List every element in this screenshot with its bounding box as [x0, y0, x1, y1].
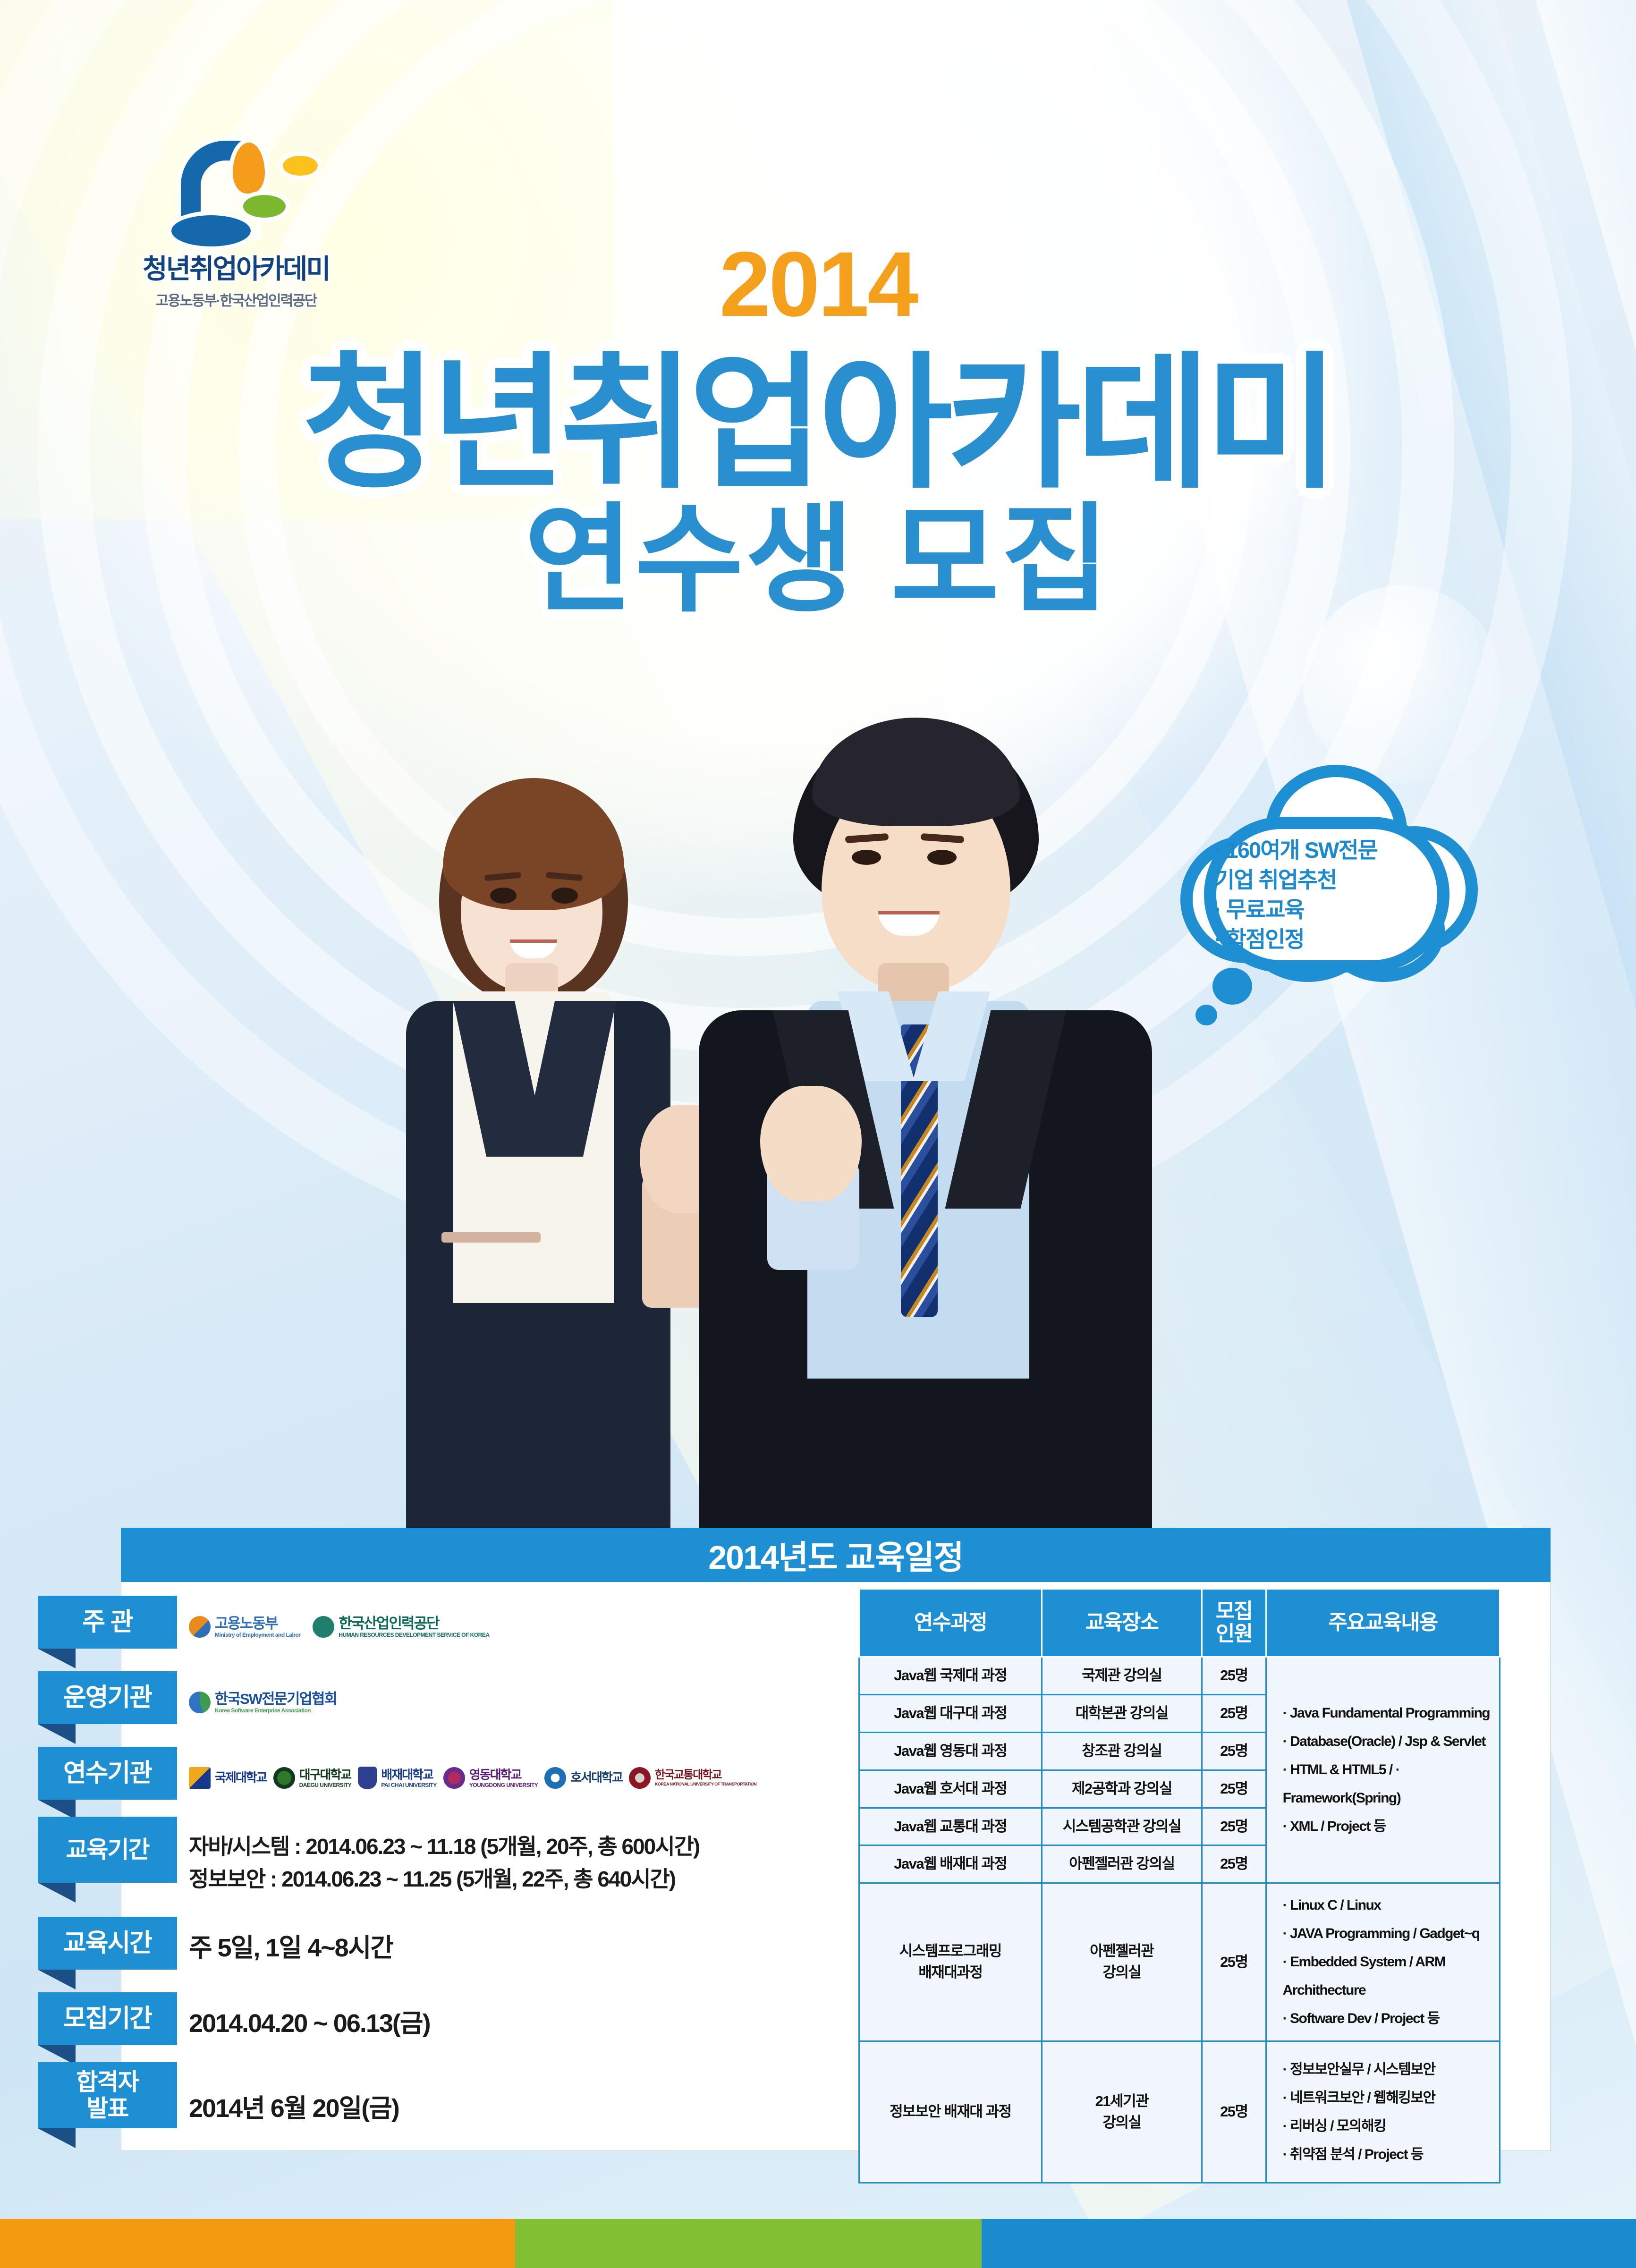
training-period-line-2: 정보보안 : 2014.06.23 ~ 11.25 (5개월, 22주, 총 6… [189, 1863, 812, 1896]
note-line: · Linux C / Linux [1283, 1891, 1496, 1920]
knut-badge-icon [629, 1767, 651, 1789]
cell-place: 아펜젤러관 강의실 [1042, 1845, 1202, 1883]
cell-course: Java웹 국제대 과정 [859, 1657, 1042, 1694]
cell-course: Java웹 호서대 과정 [859, 1770, 1042, 1808]
info-row-training-period: 교육기간 자바/시스템 : 2014.06.23 ~ 11.18 (5개월, 2… [84, 1816, 821, 1910]
cell-content-group1: · Java Fundamental Programming · Databas… [1266, 1657, 1500, 1883]
course-table-header-row: 연수과정 교육장소 모집 인원 주요교육내용 [859, 1589, 1500, 1657]
kosea-name: 한국SW전문기업협회 [215, 1692, 337, 1706]
woman-hair-top [443, 778, 624, 910]
cloud-benefit-text: · 160여개 SW전문 기업 취업추천 · 무료교육 · 학점인정 [1214, 836, 1436, 955]
title-year: 2014 [0, 238, 1636, 330]
woman-eye-left [490, 888, 517, 904]
cell-quota: 25명 [1202, 1657, 1266, 1694]
cell-course: Java웹 대구대 과정 [859, 1694, 1042, 1732]
kosea-text: 한국SW전문기업협회 Korea Software Enterprise Ass… [215, 1692, 337, 1713]
schedule-info-rows: 주 관 고용노동부 Ministry of Employment and Lab… [84, 1589, 821, 2156]
hrdkorea-name: 한국산업인력공단 [339, 1616, 489, 1631]
logo-moel: 고용노동부 Ministry of Employment and Labor [189, 1616, 300, 1638]
title-main: 청년취업아카데미 [0, 347, 1636, 499]
paichai-shield-icon [358, 1767, 377, 1789]
cell-course: Java웹 영동대 과정 [859, 1732, 1042, 1770]
info-label-host: 주 관 [38, 1596, 177, 1649]
man-eye-right [927, 850, 957, 865]
info-row-host: 주 관 고용노동부 Ministry of Employment and Lab… [84, 1589, 821, 1665]
logo-kookje-univ: 국제대학교 [189, 1767, 267, 1789]
logo-youngdong-univ: 영동대학교 YOUNGDONG UNIVERSITY [443, 1767, 538, 1789]
poster-title-block: 2014 청년취업아카데미 연수생 모집 [0, 0, 1636, 625]
cell-course: Java웹 배재대 과정 [859, 1845, 1042, 1883]
kosea-badge-icon [189, 1692, 211, 1713]
kookje-name: 국제대학교 [215, 1771, 267, 1784]
youngdong-text: 영동대학교 YOUNGDONG UNIVERSITY [469, 1769, 538, 1788]
hoseo-badge-icon [544, 1767, 566, 1789]
col-header-course: 연수과정 [859, 1589, 1042, 1657]
kookje-text: 국제대학교 [215, 1771, 267, 1785]
paichai-name: 배재대학교 [381, 1769, 437, 1781]
cloud-tail-small [1195, 1005, 1217, 1025]
cell-course: Java웹 교통대 과정 [859, 1808, 1042, 1845]
cell-course: 정보보안 배재대 과정 [859, 2041, 1042, 2183]
logo-kosea: 한국SW전문기업협회 Korea Software Enterprise Ass… [189, 1692, 337, 1713]
moel-name-en: Ministry of Employment and Labor [215, 1632, 300, 1638]
cell-place: 제2공학과 강의실 [1042, 1770, 1202, 1808]
info-row-results-announcement: 합격자 발표 2014년 6월 20일(금) [84, 2061, 821, 2156]
note-line: · HTML & HTML5 / · Framework(Spring) [1283, 1756, 1496, 1812]
table-row: 정보보안 배재대 과정 21세기관 강의실 25명 · 정보보안실무 / 시스템… [859, 2041, 1500, 2183]
knut-name-en: KOREA NATIONAL UNIVERSITY OF TRANSPORTAT… [655, 1782, 756, 1786]
footer-stripe-blue [982, 2219, 1636, 2268]
col-header-content: 주요교육내용 [1266, 1589, 1500, 1657]
note-line: · 네트워크보안 / 웹해킹보안 [1283, 2084, 1496, 2112]
note-line: · 정보보안실무 / 시스템보안 [1283, 2056, 1496, 2084]
hrdkorea-name-en: HUMAN RESOURCES DEVELOPMENT SERVICE OF K… [339, 1632, 489, 1638]
operator-logo-strip: 한국SW전문기업협회 Korea Software Enterprise Ass… [189, 1692, 812, 1713]
paichai-name-en: PAI CHAI UNIVERSITY [381, 1782, 437, 1788]
daegu-badge-icon [273, 1767, 295, 1789]
info-row-training-institutions: 연수기관 국제대학교 대구대학교 DAEGU [84, 1740, 821, 1816]
man-eye-left [852, 850, 881, 865]
cell-content-group3: · 정보보안실무 / 시스템보안 · 네트워크보안 / 웹해킹보안 · 리버싱 … [1266, 2041, 1500, 2183]
youngdong-badge-icon [443, 1767, 465, 1789]
kosea-name-en: Korea Software Enterprise Association [215, 1708, 337, 1713]
knut-name: 한국교통대학교 [655, 1769, 756, 1781]
note-line: · JAVA Programming / Gadget~q [1283, 1920, 1496, 1948]
note-line: · Embedded System / ARM Archithecture [1283, 1948, 1496, 2005]
note-line: · Database(Oracle) / Jsp & Servlet [1283, 1727, 1496, 1756]
info-label-training-period: 교육기간 [38, 1817, 177, 1883]
info-value-training-period: 자바/시스템 : 2014.06.23 ~ 11.18 (5개월, 20주, 총… [189, 1816, 812, 1910]
moel-name: 고용노동부 [215, 1616, 300, 1631]
cell-place: 국제관 강의실 [1042, 1657, 1202, 1694]
cell-place: 창조관 강의실 [1042, 1732, 1202, 1770]
cloud-tail-large [1212, 968, 1252, 1005]
knut-text: 한국교통대학교 KOREA NATIONAL UNIVERSITY OF TRA… [655, 1769, 756, 1786]
info-row-training-hours: 교육시간 주 5일, 1일 4~8시간 [84, 1910, 821, 1986]
logo-knut-univ: 한국교통대학교 KOREA NATIONAL UNIVERSITY OF TRA… [629, 1767, 756, 1789]
application-period-text: 2014.04.20 ~ 06.13(금) [189, 2005, 812, 2043]
cloud-line-4: · 학점인정 [1214, 925, 1436, 955]
col-header-place: 교육장소 [1042, 1589, 1202, 1657]
logo-paichai-univ: 배재대학교 PAI CHAI UNIVERSITY [358, 1767, 437, 1789]
youngdong-name-en: YOUNGDONG UNIVERSITY [469, 1782, 538, 1788]
course-table: 연수과정 교육장소 모집 인원 주요교육내용 Java웹 국제대 과정 국제관 … [858, 1588, 1500, 2183]
woman-eye-right [551, 888, 578, 904]
kookje-badge-icon [189, 1767, 211, 1789]
hoseo-text: 호서대학교 [570, 1771, 622, 1785]
title-subtitle: 연수생 모집 [0, 495, 1636, 625]
logo-daegu-univ: 대구대학교 DAEGU UNIVERSITY [273, 1767, 352, 1789]
info-value-results-announcement: 2014년 6월 20일(금) [189, 2061, 812, 2156]
info-label-results-announcement: 합격자 발표 [38, 2062, 177, 2128]
info-value-application-period: 2014.04.20 ~ 06.13(금) [189, 1986, 812, 2061]
training-period-line-1: 자바/시스템 : 2014.06.23 ~ 11.18 (5개월, 20주, 총… [189, 1830, 812, 1863]
university-logo-strip: 국제대학교 대구대학교 DAEGU UNIVERSITY [189, 1767, 812, 1789]
note-line: · XML / Project 등 [1283, 1812, 1496, 1841]
note-line: · 취약점 분석 / Project 등 [1283, 2141, 1496, 2169]
cell-quota: 25명 [1202, 1770, 1266, 1808]
daegu-text: 대구대학교 DAEGU UNIVERSITY [299, 1769, 352, 1788]
cell-course: 시스템프로그래밍 배재대과정 [859, 1883, 1042, 2041]
course-table-wrap: 연수과정 교육장소 모집 인원 주요교육내용 Java웹 국제대 과정 국제관 … [858, 1588, 1500, 2183]
schedule-banner: 2014년도 교육일정 [121, 1528, 1551, 1582]
note-line: · 리버싱 / 모의해킹 [1283, 2112, 1496, 2141]
cell-place: 시스템공학관 강의실 [1042, 1808, 1202, 1845]
paichai-text: 배재대학교 PAI CHAI UNIVERSITY [381, 1769, 437, 1788]
cell-place: 21세기관 강의실 [1042, 2041, 1202, 2183]
cloud-line-2: 기업 취업추천 [1214, 865, 1436, 895]
cell-quota: 25명 [1202, 2041, 1266, 2183]
results-announcement-text: 2014년 6월 20일(금) [189, 2090, 812, 2128]
youngdong-name: 영동대학교 [469, 1769, 538, 1781]
hrdkorea-text: 한국산업인력공단 HUMAN RESOURCES DEVELOPMENT SER… [339, 1616, 489, 1638]
daegu-name: 대구대학교 [299, 1769, 352, 1781]
cell-place: 아펜젤러관 강의실 [1042, 1883, 1202, 2041]
table-row: Java웹 국제대 과정 국제관 강의실 25명 · Java Fundamen… [859, 1657, 1500, 1694]
cloud-line-1: · 160여개 SW전문 [1214, 836, 1436, 865]
info-label-operator: 운영기관 [38, 1671, 177, 1724]
info-label-application-period: 모집기간 [38, 1992, 177, 2045]
cell-quota: 25명 [1202, 1808, 1266, 1845]
footer-stripe-orange [0, 2219, 515, 2268]
logo-hoseo-univ: 호서대학교 [544, 1767, 622, 1789]
info-value-operator: 한국SW전문기업협회 Korea Software Enterprise Ass… [189, 1665, 812, 1740]
moel-badge-icon [189, 1616, 211, 1638]
schedule-panel: 2014년도 교육일정 주 관 고용노동부 Ministry of Employ… [84, 1528, 1551, 2151]
woman-pocket-square [441, 1232, 541, 1243]
table-row: 시스템프로그래밍 배재대과정 아펜젤러관 강의실 25명 · Linux C /… [859, 1883, 1500, 2041]
moel-text: 고용노동부 Ministry of Employment and Labor [215, 1616, 300, 1638]
info-label-training-institutions: 연수기관 [38, 1747, 177, 1800]
note-line: · Java Fundamental Programming [1283, 1699, 1496, 1727]
cell-content-group2: · Linux C / Linux · JAVA Programming / G… [1266, 1883, 1500, 2041]
footer-stripe-green [515, 2219, 982, 2268]
man-fist [760, 1086, 862, 1202]
cell-quota: 25명 [1202, 1883, 1266, 2041]
cloud-line-3: · 무료교육 [1214, 895, 1436, 925]
footer-color-bar [0, 2219, 1636, 2268]
info-row-application-period: 모집기간 2014.04.20 ~ 06.13(금) [84, 1986, 821, 2061]
logo-hrdkorea: 한국산업인력공단 HUMAN RESOURCES DEVELOPMENT SER… [313, 1616, 489, 1638]
info-value-host: 고용노동부 Ministry of Employment and Labor 한… [189, 1589, 812, 1665]
hoseo-name: 호서대학교 [570, 1771, 622, 1784]
info-value-training-institutions: 국제대학교 대구대학교 DAEGU UNIVERSITY [189, 1740, 812, 1816]
note-line: · Software Dev / Project 등 [1283, 2005, 1496, 2033]
info-value-training-hours: 주 5일, 1일 4~8시간 [189, 1910, 812, 1986]
benefits-thought-bubble: · 160여개 SW전문 기업 취업추천 · 무료교육 · 학점인정 [1171, 765, 1473, 1001]
cell-quota: 25명 [1202, 1845, 1266, 1883]
info-label-training-hours: 교육시간 [38, 1917, 177, 1970]
man-hair-fringe [812, 718, 1020, 826]
col-header-quota: 모집 인원 [1202, 1589, 1266, 1657]
hrdkorea-badge-icon [313, 1616, 334, 1638]
cell-quota: 25명 [1202, 1694, 1266, 1732]
daegu-name-en: DAEGU UNIVERSITY [299, 1782, 352, 1788]
cell-place: 대학본관 강의실 [1042, 1694, 1202, 1732]
host-logo-strip: 고용노동부 Ministry of Employment and Labor 한… [189, 1616, 812, 1638]
cell-quota: 25명 [1202, 1732, 1266, 1770]
info-row-operator: 운영기관 한국SW전문기업협회 Korea Software Enterpris… [84, 1665, 821, 1740]
training-hours-text: 주 5일, 1일 4~8시간 [189, 1929, 812, 1967]
people-photo [368, 699, 1275, 1549]
